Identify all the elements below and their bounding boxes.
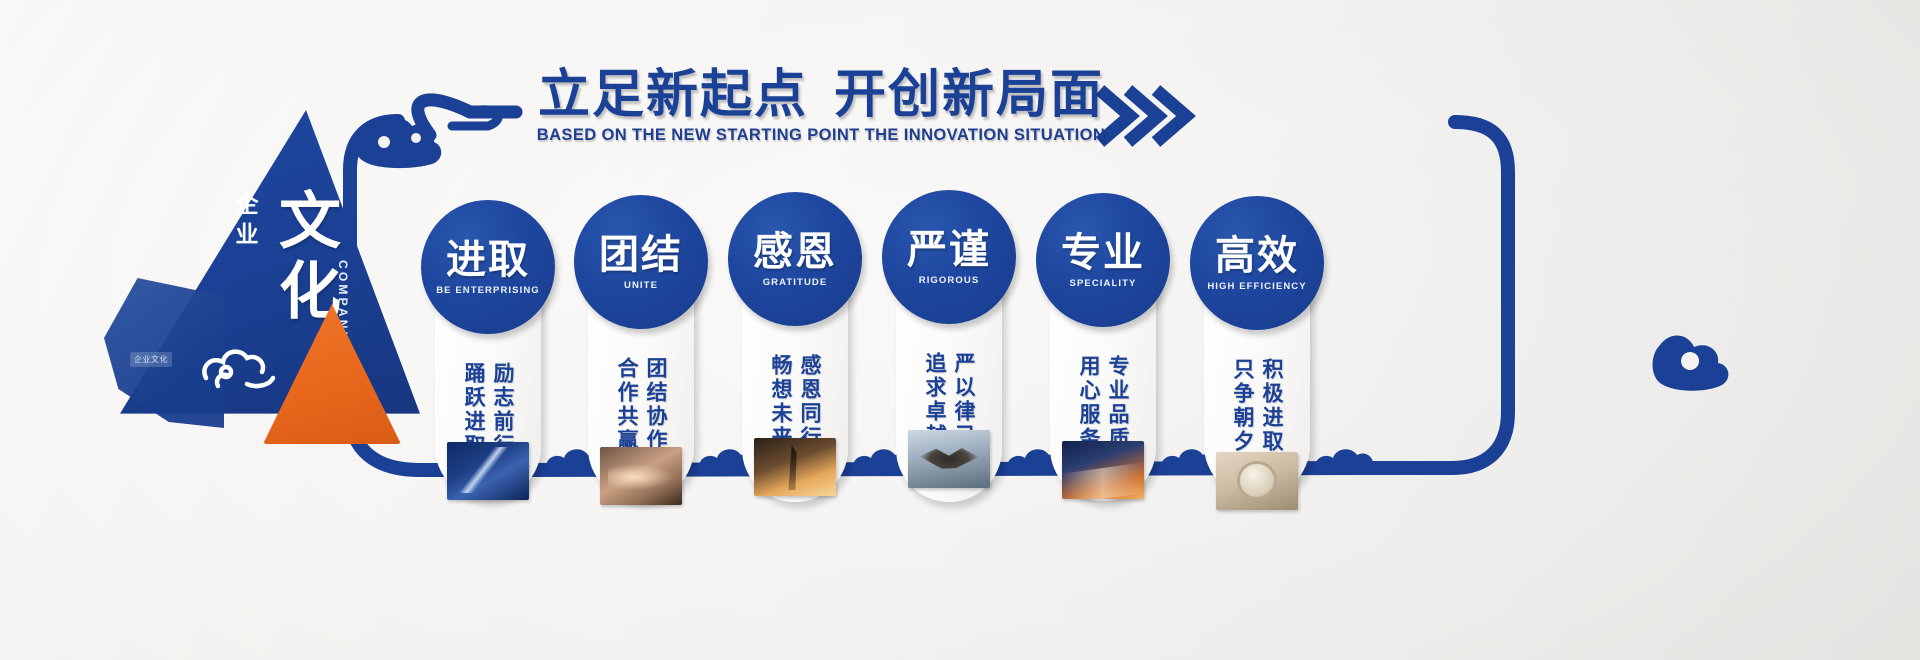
capsule-badge-6[interactable]: 高效HIGH EFFICIENCY: [1190, 196, 1324, 330]
capsule-title-en: SPECIALITY: [1070, 278, 1137, 289]
capsule-title-cn: 团结: [599, 233, 683, 277]
logo-cn-small: 企业: [232, 192, 258, 252]
cloud-motif-top-icon: [350, 112, 472, 172]
logo-cn-big: 文化: [270, 188, 336, 328]
capsule-verse-right: 感恩同行: [797, 354, 822, 450]
capsule-title-cn: 专业: [1061, 231, 1145, 275]
culture-capsule-3[interactable]: 感恩GRATITUDE感恩同行畅想未来: [742, 202, 848, 502]
title-cn-left: 立足新起点: [538, 66, 808, 124]
capsule-title-cn: 感恩: [753, 230, 837, 274]
culture-capsule-6[interactable]: 高效HIGH EFFICIENCY积极进取只争朝夕: [1204, 206, 1310, 498]
capsule-verse-left: 只争朝夕: [1230, 358, 1255, 454]
capsule-verse-left: 用心服务: [1076, 355, 1101, 451]
capsule-title-en: RIGOROUS: [919, 275, 980, 286]
culture-capsule-5[interactable]: 专业SPECIALITY专业品质用心服务: [1050, 203, 1156, 501]
capsule-verse-right: 专业品质: [1105, 355, 1130, 451]
page-subtitle: BASED ON THE NEW STARTING POINT THE INNO…: [536, 126, 1106, 145]
eagle-photo: [908, 430, 990, 488]
capsule-badge-1[interactable]: 进取BE ENTERPRISING: [421, 200, 555, 334]
cloud-divider-6: [1312, 440, 1412, 474]
page-title: 立足新起点开创新局面: [536, 66, 1106, 124]
capsule-badge-3[interactable]: 感恩GRATITUDE: [728, 192, 862, 326]
capsule-title-en: GRATITUDE: [763, 277, 828, 288]
culture-capsule-4[interactable]: 严谨RIGOROUS严以律己追求卓越: [896, 200, 1002, 502]
capsule-verse: 专业品质用心服务: [1050, 355, 1156, 451]
capsule-verse-right: 积极进取: [1259, 358, 1284, 454]
culture-capsule-2[interactable]: 团结UNITE团结协作合作共赢: [588, 205, 694, 501]
capsule-title-en: HIGH EFFICIENCY: [1207, 281, 1306, 292]
title-cn-right: 开创新局面: [834, 66, 1104, 124]
capsule-badge-2[interactable]: 团结UNITE: [574, 195, 708, 329]
logo-badge: 企业文化: [130, 352, 172, 367]
capsule-verse-right: 团结协作: [643, 357, 668, 453]
capsule-title-en: UNITE: [624, 280, 658, 291]
wall-title-block: 立足新起点开创新局面 BASED ON THE NEW STARTING POI…: [536, 66, 1106, 145]
capsule-title-cn: 高效: [1215, 234, 1299, 278]
capsule-verse-left: 合作共赢: [614, 357, 639, 453]
chinese-cloud-motif-icon: [192, 328, 302, 400]
capsule-badge-5[interactable]: 专业SPECIALITY: [1036, 193, 1170, 327]
fountain-pen-photo: [447, 442, 529, 500]
running-track-photo: [1062, 441, 1144, 499]
capsule-title-en: BE ENTERPRISING: [436, 285, 540, 296]
capsule-verse: 积极进取只争朝夕: [1204, 358, 1310, 454]
handshake-photo: [600, 447, 682, 505]
capsule-badge-4[interactable]: 严谨RIGOROUS: [882, 190, 1016, 324]
capsule-verse: 团结协作合作共赢: [588, 357, 694, 453]
capsule-verse: 感恩同行畅想未来: [742, 354, 848, 450]
reaching-hand-photo: [754, 438, 836, 496]
stopwatch-photo: [1216, 452, 1298, 510]
capsule-title-cn: 严谨: [907, 228, 991, 272]
capsule-title-cn: 进取: [446, 238, 530, 282]
capsule-verse-left: 畅想未来: [768, 354, 793, 450]
culture-capsule-1[interactable]: 进取BE ENTERPRISING励志前行踊跃进取: [435, 210, 541, 500]
